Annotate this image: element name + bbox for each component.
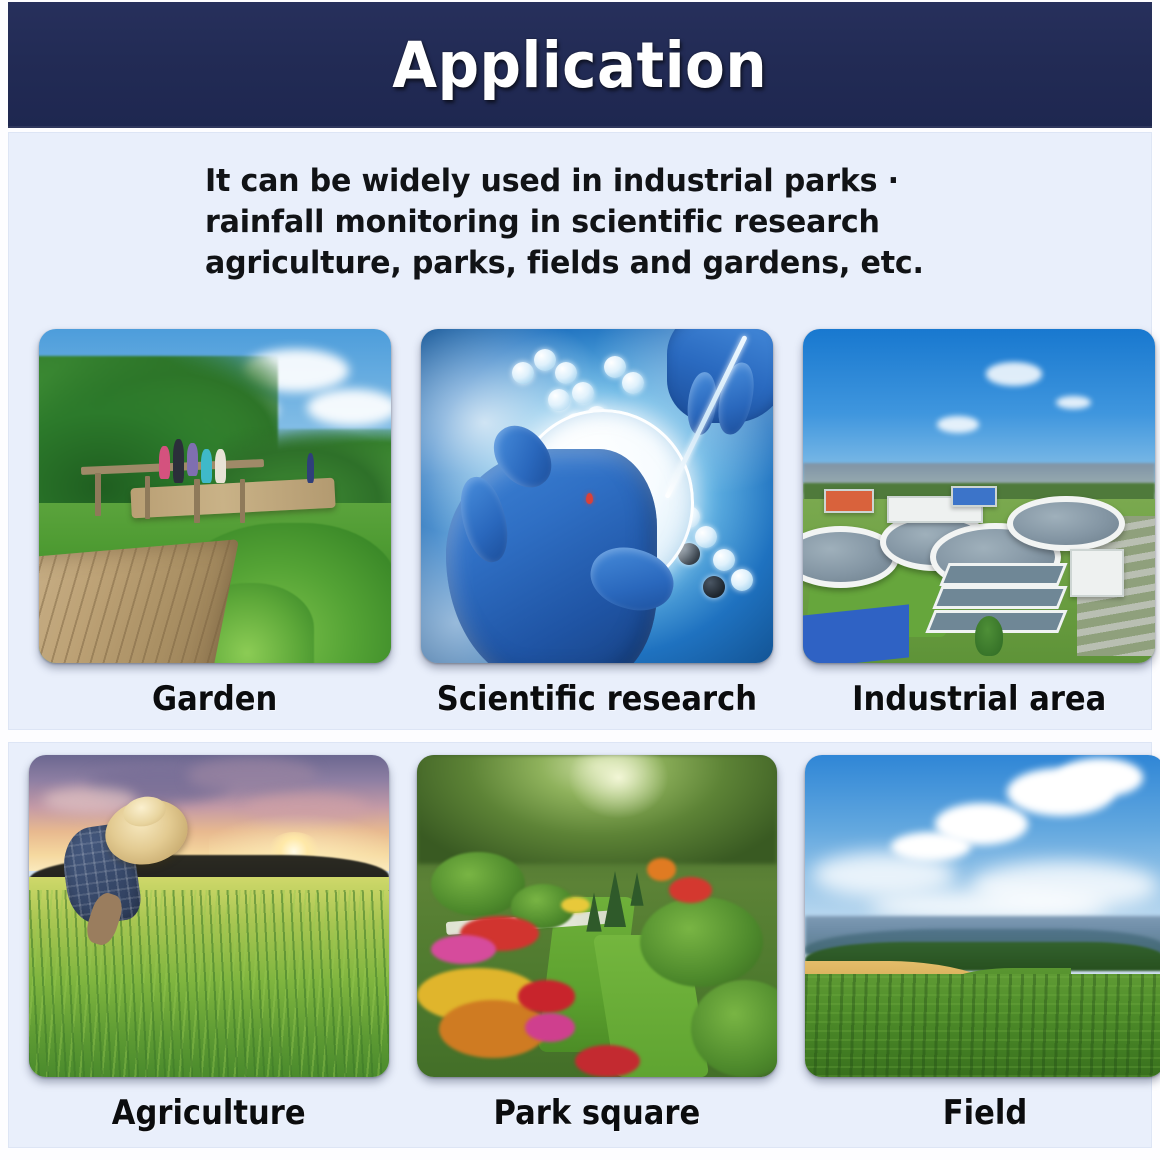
farmer-rice-field-sunset-scene xyxy=(29,755,389,1077)
industrial-area-image[interactable] xyxy=(803,329,1155,663)
shrub xyxy=(640,897,762,987)
garden-image[interactable] xyxy=(39,329,391,663)
dna-node xyxy=(731,569,753,591)
dna-node xyxy=(622,372,644,394)
dna-node xyxy=(604,356,626,378)
cloud-shape xyxy=(812,852,956,897)
crop-texture xyxy=(805,974,1160,1077)
dna-node xyxy=(555,362,577,384)
intro-separator-dot: · xyxy=(888,163,899,199)
caption-agriculture: Agriculture xyxy=(112,1093,306,1133)
ornamental-flower-garden-scene xyxy=(417,755,777,1077)
visitor-figure xyxy=(307,453,315,483)
caption-field: Field xyxy=(943,1093,1028,1133)
visitor-figure xyxy=(187,443,198,476)
conifer-tree xyxy=(604,871,626,927)
caption-scientific-research: Scientific research xyxy=(437,679,757,719)
flower-bed-red xyxy=(518,980,576,1012)
caption-park-square: Park square xyxy=(494,1093,701,1133)
field-image[interactable] xyxy=(805,755,1160,1077)
flower-bed-pink xyxy=(525,1013,575,1042)
plant-building-blue-roof xyxy=(951,486,997,507)
settling-basin xyxy=(939,563,1067,586)
park-square-image[interactable] xyxy=(417,755,777,1077)
application-card-garden[interactable]: Garden xyxy=(39,329,391,719)
intro-line-1: It can be widely used in industrial park… xyxy=(205,163,877,199)
sky-layer xyxy=(803,329,1155,483)
blue-fence xyxy=(803,604,909,663)
scientific-research-image[interactable] xyxy=(421,329,773,663)
control-building xyxy=(1070,549,1123,596)
rail-post xyxy=(145,476,151,519)
flower-bed-orange xyxy=(647,858,676,881)
crop-field-hills-clouds-scene xyxy=(805,755,1160,1077)
visitor-figure xyxy=(215,449,226,482)
intro-line-2: rainfall monitoring in scientific resear… xyxy=(205,204,880,240)
conifer-tree xyxy=(630,872,643,906)
tree-shape xyxy=(975,616,1003,656)
conifer-tree xyxy=(586,892,601,931)
garden-boardwalk-scene xyxy=(39,329,391,663)
visitor-figure xyxy=(173,439,184,482)
agriculture-image[interactable] xyxy=(29,755,389,1077)
application-row-top: Garden xyxy=(39,329,1139,719)
rail-post xyxy=(194,479,200,522)
dna-node xyxy=(534,349,556,371)
flower-bed-red xyxy=(669,877,712,903)
cloud-shape xyxy=(986,362,1042,385)
cloud-shape xyxy=(187,758,317,793)
rail-post xyxy=(95,473,101,516)
plant-building-red-roof xyxy=(824,489,874,513)
clarifier-tank xyxy=(1007,496,1125,551)
caption-industrial-area: Industrial area xyxy=(852,679,1106,719)
laboratory-petri-dish-scene xyxy=(421,329,773,663)
application-card-scientific-research[interactable]: Scientific research xyxy=(419,329,775,719)
industrial-water-treatment-plant-scene xyxy=(803,329,1155,663)
caption-garden: Garden xyxy=(152,679,277,719)
intro-line-3: agriculture, parks, fields and gardens, … xyxy=(205,245,924,281)
settling-basin xyxy=(932,586,1067,609)
application-card-park-square[interactable]: Park square xyxy=(417,755,777,1133)
flower-bed-yellow xyxy=(561,897,590,913)
flower-bed-red xyxy=(575,1045,640,1077)
boardwalk-planks xyxy=(39,540,239,663)
dna-node xyxy=(548,389,570,411)
application-card-industrial-area[interactable]: Industrial area xyxy=(803,329,1155,719)
rail-post xyxy=(240,479,246,522)
visitor-figure xyxy=(159,446,170,479)
cloud-shape xyxy=(1057,758,1143,797)
cloud-shape xyxy=(307,389,391,426)
application-page: Application It can be widely used in ind… xyxy=(0,0,1160,1160)
dna-node-dark xyxy=(703,576,725,598)
application-row-bottom: Agriculture xyxy=(29,755,1149,1133)
application-card-field[interactable]: Field xyxy=(805,755,1160,1133)
header-banner: Application xyxy=(8,2,1152,128)
sunlight-glow xyxy=(568,755,669,819)
page-title: Application xyxy=(393,29,768,102)
application-card-agriculture[interactable]: Agriculture xyxy=(29,755,389,1133)
visitor-figure xyxy=(201,449,212,482)
top-content-panel: It can be widely used in industrial park… xyxy=(8,132,1152,730)
intro-description: It can be widely used in industrial park… xyxy=(205,161,1000,284)
bottom-content-panel: Agriculture xyxy=(8,742,1152,1148)
cloud-shape xyxy=(937,416,979,433)
